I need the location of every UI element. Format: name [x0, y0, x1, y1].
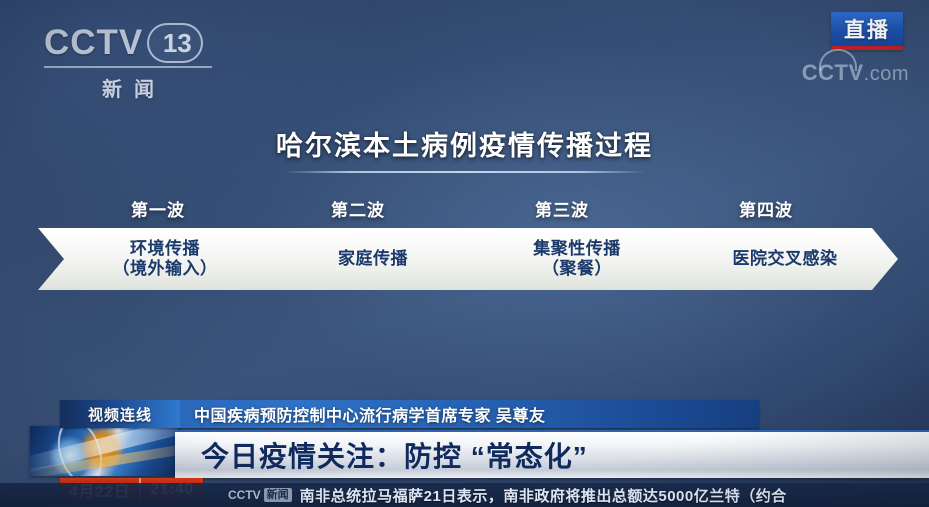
- wave-label-3: 第三波: [535, 196, 589, 221]
- video-link-tag: 视频连线: [60, 400, 180, 428]
- flow-step-4-line1: 医院交叉感染: [733, 249, 838, 268]
- flow-step-4-text: 医院交叉感染: [719, 249, 838, 269]
- flow-step-1-line2: （境外输入）: [113, 259, 218, 279]
- flow-step-1-line1: 环境传播: [130, 239, 200, 258]
- cctv-com-watermark: CCTV.com: [802, 60, 909, 86]
- graphic-title: 哈尔滨本土病例疫情传播过程: [276, 124, 653, 169]
- expert-name-title: 中国疾病预防控制中心流行病学首席专家 吴尊友: [180, 402, 545, 426]
- wave-label-1: 第一波: [131, 196, 185, 221]
- channel-logo-underline: [44, 66, 212, 68]
- live-badge: 直播: [831, 12, 903, 50]
- broadcast-screen: CCTV 13 新闻 直播 CCTV.com 哈尔滨本土病例疫情传播过程 第一波…: [0, 0, 929, 507]
- ticker-logo-badge: 新闻: [264, 488, 292, 502]
- channel-name-label: 新闻: [44, 73, 212, 102]
- flow-step-2: 家庭传播: [250, 228, 482, 290]
- transmission-flow: 环境传播 （境外输入） 家庭传播 集聚性传播 （聚餐） 医院交叉感染: [38, 228, 898, 290]
- flow-step-3: 集聚性传播 （聚餐）: [454, 228, 686, 290]
- graphic-title-block: 哈尔滨本土病例疫情传播过程: [0, 124, 929, 173]
- flow-step-2-line1: 家庭传播: [338, 249, 408, 268]
- wave-label-4: 第四波: [739, 196, 793, 221]
- ticker-headline: 南非总统拉马福萨21日表示，南非政府将推出总额达5000亿兰特（约合: [300, 485, 787, 506]
- flow-step-1-text: 环境传播 （境外输入）: [99, 239, 218, 279]
- news-ticker: CCTV 新闻 南非总统拉马福萨21日表示，南非政府将推出总额达5000亿兰特（…: [0, 483, 929, 507]
- flow-step-3-text: 集聚性传播 （聚餐）: [519, 239, 621, 279]
- lower-third-headline-bar: 今日疫情关注：防控 “常态化”: [175, 430, 929, 478]
- watermark-domain: .com: [864, 63, 909, 85]
- channel-number-badge: 13: [147, 23, 203, 63]
- flow-step-1: 环境传播 （境外输入）: [38, 228, 278, 290]
- flow-step-3-line2: （聚餐）: [533, 259, 621, 279]
- flow-step-2-text: 家庭传播: [324, 249, 408, 269]
- flow-step-4: 医院交叉感染: [658, 228, 898, 290]
- ticker-cctv-news-logo: CCTV 新闻: [228, 487, 292, 503]
- flow-step-3-line1: 集聚性传播: [533, 239, 621, 258]
- cctv-wordmark: CCTV: [44, 23, 143, 63]
- wave-labels: 第一波 第二波 第三波 第四波: [0, 196, 929, 222]
- channel-logo: CCTV 13 新闻: [44, 22, 254, 94]
- lower-third-topbar: 视频连线 中国疾病预防控制中心流行病学首席专家 吴尊友: [60, 400, 759, 428]
- ticker-logo-cctv: CCTV: [228, 488, 261, 502]
- swoosh-icon: [819, 49, 857, 71]
- headline-text: 今日疫情关注：防控 “常态化”: [175, 435, 588, 475]
- wave-label-2: 第二波: [331, 196, 385, 221]
- live-badge-label: 直播: [844, 14, 890, 44]
- news-emblem-graphic: [30, 426, 178, 476]
- graphic-title-underline: [285, 171, 645, 173]
- channel-logo-row: CCTV 13: [44, 22, 254, 64]
